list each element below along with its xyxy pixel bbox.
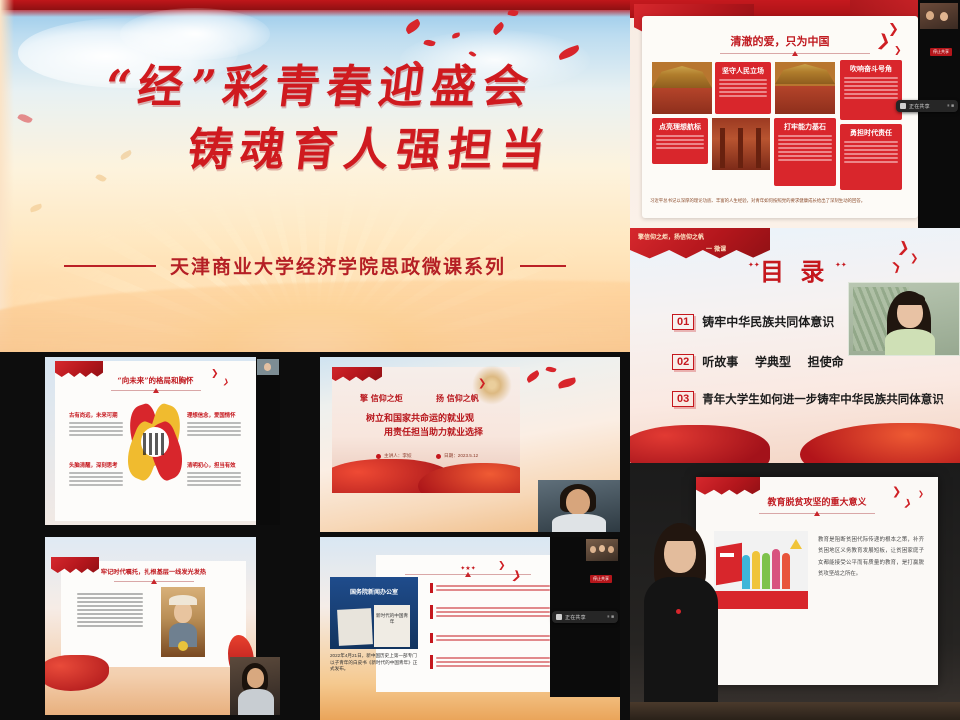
bullet-row	[430, 605, 550, 619]
bullet-text	[436, 583, 550, 593]
catalog-item[interactable]: 01 铸牢中华民族共同体意识	[672, 313, 834, 330]
panel-catalog[interactable]: 擎信仰之炬，扬信仰之帆 一 微课 目 录 ✦✦ ✦✦ ❯ ❯ ❯ 01 铸牢中华…	[630, 228, 960, 463]
panel-youth-whitepaper[interactable]: ✦★✦ ❯ ❯ 国务院新闻办公室	[320, 537, 620, 720]
quadrant-title: 头脑清醒，深刻思考	[69, 461, 118, 469]
divider-left	[64, 265, 156, 267]
pillar-decor	[756, 128, 761, 168]
title-underline	[759, 513, 875, 514]
panel-education-poverty[interactable]: 教育脱贫攻坚的重大意义 ❯ ❯ ❯ 教育是阻断贫困代际传递的根本之策，补齐贫困地…	[630, 463, 960, 720]
meeting-sidebar	[256, 357, 280, 525]
petal-decor	[404, 19, 422, 35]
hero-subtitle-row: 天津商业大学经济学院思政微课系列	[0, 252, 630, 279]
catalog-item[interactable]: 03 青年大学生如何进一步铸牢中华民族共同体意识	[672, 391, 944, 407]
avatar	[599, 545, 605, 552]
slide-body-text: 教育是阻断贫困代际传递的根本之策，补齐贫困地区义务教育发展短板，让贫困家庭子女都…	[818, 535, 924, 580]
bird-icon: ❯	[892, 487, 901, 498]
quadrant-title: 理想信念，爱国情怀	[187, 411, 236, 419]
slide-title: 牢记时代嘱托，扎根基层一线发光发热	[61, 567, 246, 576]
bird-icon: ❯	[478, 379, 486, 389]
star-left-icon: ✦✦	[748, 261, 760, 269]
slide-footer-note: 习近平总书记以深厚的理论功底、丰富的人生经验，对青年如何按照党的要求健康成长给出…	[650, 198, 910, 204]
roof-shape	[652, 66, 712, 88]
avatar-body	[552, 514, 606, 532]
bird-icon: ❯	[894, 46, 902, 55]
panel-mission[interactable]: 牢记时代嘱托，扎根基层一线发光发热	[45, 537, 280, 715]
info-card-title: 坚守人民立场	[715, 66, 771, 76]
hero-top-ribbon	[0, 0, 630, 10]
meeting-toolbar-controls[interactable]: ⏸ ■	[607, 614, 614, 620]
avatar	[590, 546, 596, 553]
hero-title-line1: “经”彩青春迎盛会	[0, 58, 630, 116]
figures-icon	[143, 433, 167, 455]
doc-booklet	[337, 608, 373, 646]
bullet-row	[430, 633, 550, 643]
meeting-sidebar	[918, 0, 960, 228]
avatar	[264, 363, 271, 371]
belief-line1: 树立和国家共命运的就业观	[366, 411, 474, 424]
portrait-emblem	[178, 641, 188, 651]
quadrant-body	[69, 420, 123, 438]
quadrant-title: 古有尚远，未来可期	[69, 411, 118, 419]
person-silhouette	[742, 555, 750, 589]
belief-meta-date: 日期：2023.5.12	[436, 453, 478, 459]
presenter-hair-front	[662, 527, 698, 541]
info-card-title: 吹响奋斗号角	[840, 64, 902, 74]
meeting-toolbar-label: 正在共享	[565, 614, 586, 621]
meeting-presenter-tile[interactable]	[538, 480, 620, 532]
stop-share-badge[interactable]: 停止共享	[590, 575, 612, 583]
meeting-gallery-tile[interactable]	[586, 539, 618, 561]
catalog-item-label: 青年大学生如何进一步铸牢中华民族共同体意识	[702, 391, 944, 407]
bullet-text	[436, 655, 550, 669]
person-silhouette	[782, 553, 790, 589]
cloud-decor	[120, 8, 270, 60]
bullet-marker	[430, 655, 433, 669]
avatar	[926, 11, 934, 20]
desk-shape	[630, 702, 960, 720]
quadrant-body	[69, 470, 123, 488]
bird-icon: ❯	[918, 491, 924, 498]
slide-inner: “向未来”的格局和胸怀 ❯ ❯ 古有尚远，未来可期 理想信念，爱国情怀 头脑清醒…	[55, 361, 256, 521]
bird-icon: ❯	[903, 498, 913, 509]
slide-surface: 清澈的爱，只为中国 ❯ ❯ ❯ 坚守人民立场 吹响奋	[630, 0, 960, 228]
title-underline	[111, 390, 201, 391]
person-silhouette	[752, 551, 760, 589]
meeting-toolbar-label: 正在共享	[909, 103, 930, 110]
bullet-text	[436, 605, 550, 619]
bullet-row	[430, 583, 550, 593]
red-swirl-decor	[800, 423, 960, 463]
banner-text-line1: 擎信仰之炬，扬信仰之帆	[638, 232, 704, 241]
avatar-face	[247, 668, 264, 688]
doc-header-text: 国务院新闻办公室	[330, 587, 418, 596]
divider-right	[520, 265, 566, 267]
avatar	[940, 12, 948, 21]
presenter-video-inset[interactable]	[848, 282, 960, 356]
star-divider-icon: ✦★✦	[460, 565, 475, 572]
catalog-item-label: 铸牢中华民族共同体意识	[702, 313, 834, 330]
meeting-toolbar-controls[interactable]: ⏸ ■	[947, 103, 954, 109]
info-card-body	[715, 79, 771, 97]
presenter-standing	[638, 513, 724, 720]
catalog-item-number: 01	[672, 314, 694, 330]
info-card[interactable]: 坚守人民立场	[715, 62, 771, 114]
star-right-icon: ✦✦	[835, 261, 847, 269]
info-card-body	[840, 141, 902, 163]
avatar-face	[566, 489, 590, 515]
bird-icon: ❯	[897, 239, 911, 255]
info-card[interactable]: 打牢能力基石	[774, 118, 836, 186]
info-card-title: 勇担时代责任	[840, 128, 902, 138]
title-underline	[114, 581, 194, 582]
meeting-toolbar[interactable]: 正在共享 ⏸ ■	[896, 100, 958, 112]
avatar-body	[885, 329, 935, 356]
catalog-item-number: 02	[672, 354, 694, 370]
pillar-decor	[720, 128, 725, 168]
panel-pure-love[interactable]: 清澈的爱，只为中国 ❯ ❯ ❯ 坚守人民立场 吹响奋	[630, 0, 960, 228]
info-card[interactable]: 吹响奋斗号角	[840, 60, 902, 120]
pillar-decor	[738, 128, 743, 168]
hero-title-line2: 铸魂育人强担当	[0, 120, 630, 180]
red-ground	[714, 591, 808, 609]
hero-subtitle: 天津商业大学经济学院思政微课系列	[170, 252, 506, 279]
quadrant-title: 清明初心，担当有效	[187, 461, 236, 469]
belief-headline-right: 扬 信仰之帆	[436, 393, 479, 404]
hero-poster: “经”彩青春迎盛会 铸魂育人强担当 天津商业大学经济学院思政微课系列	[0, 0, 630, 352]
temple-photo	[652, 62, 712, 114]
stop-share-badge[interactable]: 停止共享	[930, 48, 952, 56]
doc-title-text: 新时代的中国青年	[374, 613, 410, 625]
whitepaper-photo: 国务院新闻办公室 新时代的中国青年	[330, 577, 418, 649]
catalog-item-label: 听故事 学典型 担使命	[702, 353, 843, 370]
panel-belief-torch[interactable]: 擎 信仰之炬 扬 信仰之帆 树立和国家共命运的就业观 用责任担当助力就业选择 主…	[320, 357, 620, 532]
presenter-pin-icon	[676, 609, 681, 614]
bird-icon: ❯	[498, 561, 506, 570]
slide-inner: 牢记时代嘱托，扎根基层一线发光发热	[61, 561, 246, 667]
catalog-item[interactable]: 02 听故事 学典型 担使命	[672, 353, 844, 370]
wall-shape	[652, 88, 712, 114]
bird-icon: ❯	[910, 254, 918, 264]
hero-title-block: “经”彩青春迎盛会 铸魂育人强担当	[0, 58, 630, 180]
dot-icon	[376, 454, 381, 459]
projection-screen: 教育脱贫攻坚的重大意义 ❯ ❯ ❯ 教育是阻断贫困代际传递的根本之策，补齐贫困地…	[696, 477, 938, 685]
info-card-title: 点亮理想航标	[652, 122, 708, 132]
panel-toward-future[interactable]: “向未来”的格局和胸怀 ❯ ❯ 古有尚远，未来可期 理想信念，爱国情怀 头脑清醒…	[45, 357, 280, 525]
meeting-toolbar[interactable]: 正在共享 ⏸ ■	[552, 611, 618, 623]
avatar-hair-front	[895, 293, 925, 305]
portrait-photo	[161, 587, 205, 657]
catalog-item-number: 03	[672, 391, 694, 407]
ribbon-decor	[332, 367, 382, 385]
illustration-people	[714, 531, 808, 609]
avatar	[608, 546, 614, 553]
roof-shape	[775, 64, 835, 84]
bullet-marker	[430, 583, 433, 593]
presenter-body	[644, 577, 718, 707]
belief-line2: 用责任担当助力就业选择	[384, 425, 483, 438]
date-text: 日期：2023.5.12	[444, 453, 478, 459]
corridor-photo	[712, 118, 770, 170]
person-silhouette	[762, 553, 770, 589]
person-silhouette	[772, 549, 780, 589]
screen-root: “经”彩青春迎盛会 铸魂育人强担当 天津商业大学经济学院思政微课系列 清澈的爱，…	[0, 0, 960, 720]
bullet-marker	[430, 633, 433, 643]
info-card[interactable]: 点亮理想航标	[652, 118, 708, 164]
info-card-title: 打牢能力基石	[774, 122, 836, 132]
info-card-body	[652, 135, 708, 149]
temple-photo	[775, 62, 835, 114]
share-icon	[556, 614, 562, 620]
info-card[interactable]: 勇担时代责任	[840, 124, 902, 190]
avatar-body	[238, 689, 274, 715]
belief-headline-left: 擎 信仰之炬	[360, 393, 403, 404]
meeting-participant-tile[interactable]	[257, 359, 279, 375]
bullet-row	[430, 655, 550, 669]
slide-title: 教育脱贫攻坚的重大意义	[696, 495, 938, 508]
catalog-heading: 目 录	[760, 252, 828, 287]
doc-booklet	[374, 605, 410, 647]
whitepaper-caption: 2022年4月21日，新中国历史上第一部专门以子青年的白皮书《新时代的中国青年》…	[330, 653, 420, 673]
star-decor	[790, 539, 802, 549]
quadrant-body	[187, 470, 241, 488]
slide-surface: 擎信仰之炬，扬信仰之帆 一 微课 目 录 ✦✦ ✦✦ ❯ ❯ ❯ 01 铸牢中华…	[630, 228, 960, 463]
bullet-text	[436, 633, 550, 643]
wall-shape	[775, 86, 835, 114]
meeting-presenter-tile[interactable]	[230, 657, 280, 715]
title-underline	[720, 53, 870, 54]
quadrant-body	[187, 420, 241, 438]
banner-text-line2: 一 微课	[706, 244, 726, 253]
bullet-marker	[430, 605, 433, 619]
dot-icon	[436, 454, 441, 459]
portrait-hat	[169, 595, 197, 605]
red-swirl-decor	[630, 425, 770, 463]
bird-icon: ❯	[511, 570, 523, 583]
slide-body-text	[77, 591, 143, 629]
bird-icon: ❯	[222, 378, 229, 386]
info-card-body	[840, 77, 902, 99]
meeting-participant-tile[interactable]	[920, 3, 958, 29]
bird-icon: ❯	[888, 22, 899, 35]
share-icon	[900, 103, 906, 109]
info-card-body	[774, 135, 836, 161]
bird-icon: ❯	[211, 369, 219, 378]
bird-icon: ❯	[891, 261, 903, 274]
